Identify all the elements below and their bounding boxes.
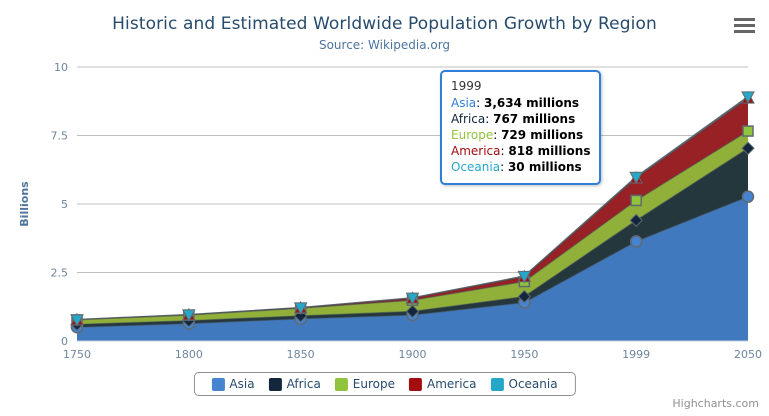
x-axis-tick-label: 1950: [510, 348, 538, 361]
tooltip-separator: :: [476, 96, 484, 110]
x-axis-tick-label: 1800: [175, 348, 203, 361]
legend-swatch-icon: [269, 378, 282, 391]
legend-item-label: Africa: [287, 377, 321, 391]
data-point-europe-2050[interactable]: [743, 126, 753, 136]
chart-legend: AsiaAfricaEuropeAmericaOceania: [193, 372, 575, 396]
tooltip-separator: :: [485, 112, 493, 126]
y-axis-title: Billions: [18, 181, 31, 227]
chart-canvas: 02.557.5101750180018501900195019992050Bi…: [0, 0, 769, 416]
tooltip-value: 3,634 millions: [484, 96, 579, 110]
highcharts-container: Historic and Estimated Worldwide Populat…: [0, 0, 769, 416]
x-axis-tick-label: 2050: [734, 348, 762, 361]
credits-link[interactable]: Highcharts.com: [672, 397, 759, 410]
legend-swatch-icon: [211, 378, 224, 391]
data-point-europe-1999[interactable]: [631, 195, 641, 205]
y-axis-tick-label: 10: [54, 61, 68, 74]
tooltip-value: 729 millions: [501, 128, 583, 142]
tooltip-row: America: 818 millions: [451, 143, 590, 159]
x-axis-tick-label: 1850: [287, 348, 315, 361]
tooltip-rows: Asia: 3,634 millionsAfrica: 767 millions…: [451, 95, 590, 175]
legend-item-asia[interactable]: Asia: [204, 377, 261, 391]
x-axis-tick-label: 1750: [63, 348, 91, 361]
tooltip-series-name: America: [451, 144, 501, 158]
legend-item-america[interactable]: America: [402, 377, 484, 391]
y-axis-tick-label: 0: [61, 335, 68, 348]
tooltip-series-name: Africa: [451, 112, 485, 126]
tooltip-row: Europe: 729 millions: [451, 127, 590, 143]
legend-item-label: Europe: [353, 377, 395, 391]
legend-swatch-icon: [409, 378, 422, 391]
tooltip-separator: :: [493, 128, 501, 142]
tooltip-value: 767 millions: [493, 112, 575, 126]
legend-swatch-icon: [335, 378, 348, 391]
tooltip-series-name: Asia: [451, 96, 476, 110]
x-axis-tick-label: 1900: [399, 348, 427, 361]
tooltip-row: Asia: 3,634 millions: [451, 95, 590, 111]
data-point-asia-1999[interactable]: [631, 236, 642, 247]
legend-item-oceania[interactable]: Oceania: [484, 377, 565, 391]
tooltip-series-name: Oceania: [451, 160, 500, 174]
tooltip: 1999 Asia: 3,634 millionsAfrica: 767 mil…: [440, 70, 601, 185]
y-axis-tick-label: 2.5: [51, 267, 69, 280]
tooltip-value: 818 millions: [508, 144, 590, 158]
legend-item-label: Oceania: [509, 377, 558, 391]
legend-item-label: Asia: [229, 377, 254, 391]
data-point-asia-2050[interactable]: [743, 191, 754, 202]
tooltip-header: 1999: [451, 79, 590, 93]
tooltip-series-name: Europe: [451, 128, 493, 142]
tooltip-row: Africa: 767 millions: [451, 111, 590, 127]
x-axis-tick-label: 1999: [622, 348, 650, 361]
tooltip-row: Oceania: 30 millions: [451, 159, 590, 175]
legend-item-label: America: [427, 377, 477, 391]
plot-area: 02.557.5101750180018501900195019992050Bi…: [0, 0, 769, 416]
legend-item-africa[interactable]: Africa: [262, 377, 328, 391]
tooltip-value: 30 millions: [508, 160, 582, 174]
y-axis-tick-label: 7.5: [51, 130, 69, 143]
legend-swatch-icon: [491, 378, 504, 391]
y-axis-tick-label: 5: [61, 198, 68, 211]
tooltip-separator: :: [500, 160, 508, 174]
legend-item-europe[interactable]: Europe: [328, 377, 402, 391]
